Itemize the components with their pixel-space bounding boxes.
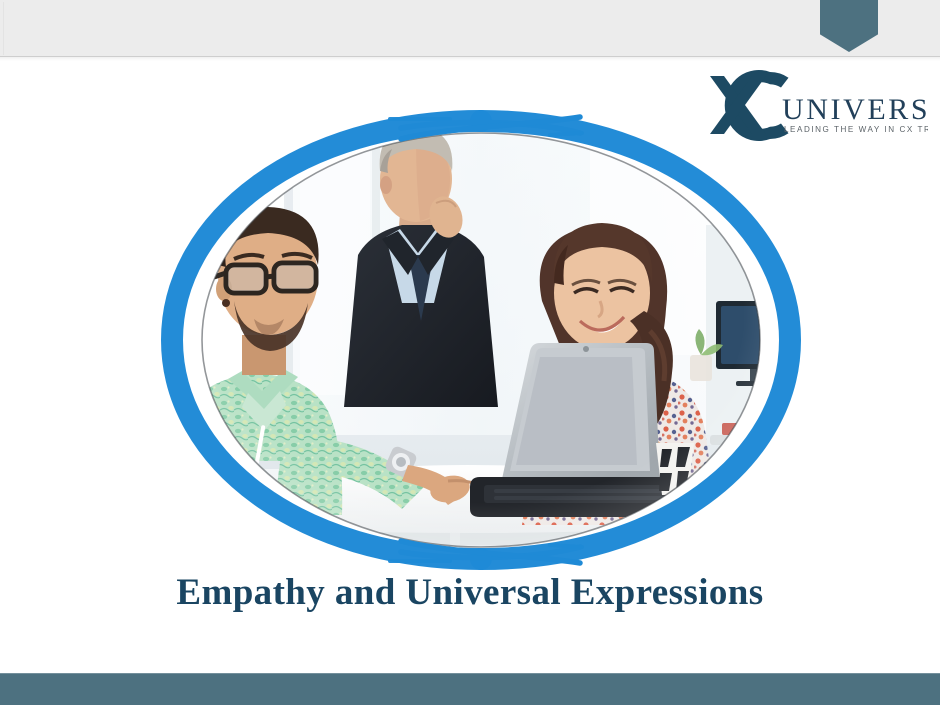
- hero-photograph: [150, 105, 812, 575]
- footer-bar: [0, 673, 940, 705]
- hero-photo-ellipse: [150, 105, 812, 575]
- header-band: [0, 0, 940, 57]
- page-title: Empathy and Universal Expressions: [0, 572, 940, 613]
- header-inner-line: [3, 2, 937, 55]
- slide: UNIVERSITY LEADING THE WAY IN CX TRAININ…: [0, 0, 940, 705]
